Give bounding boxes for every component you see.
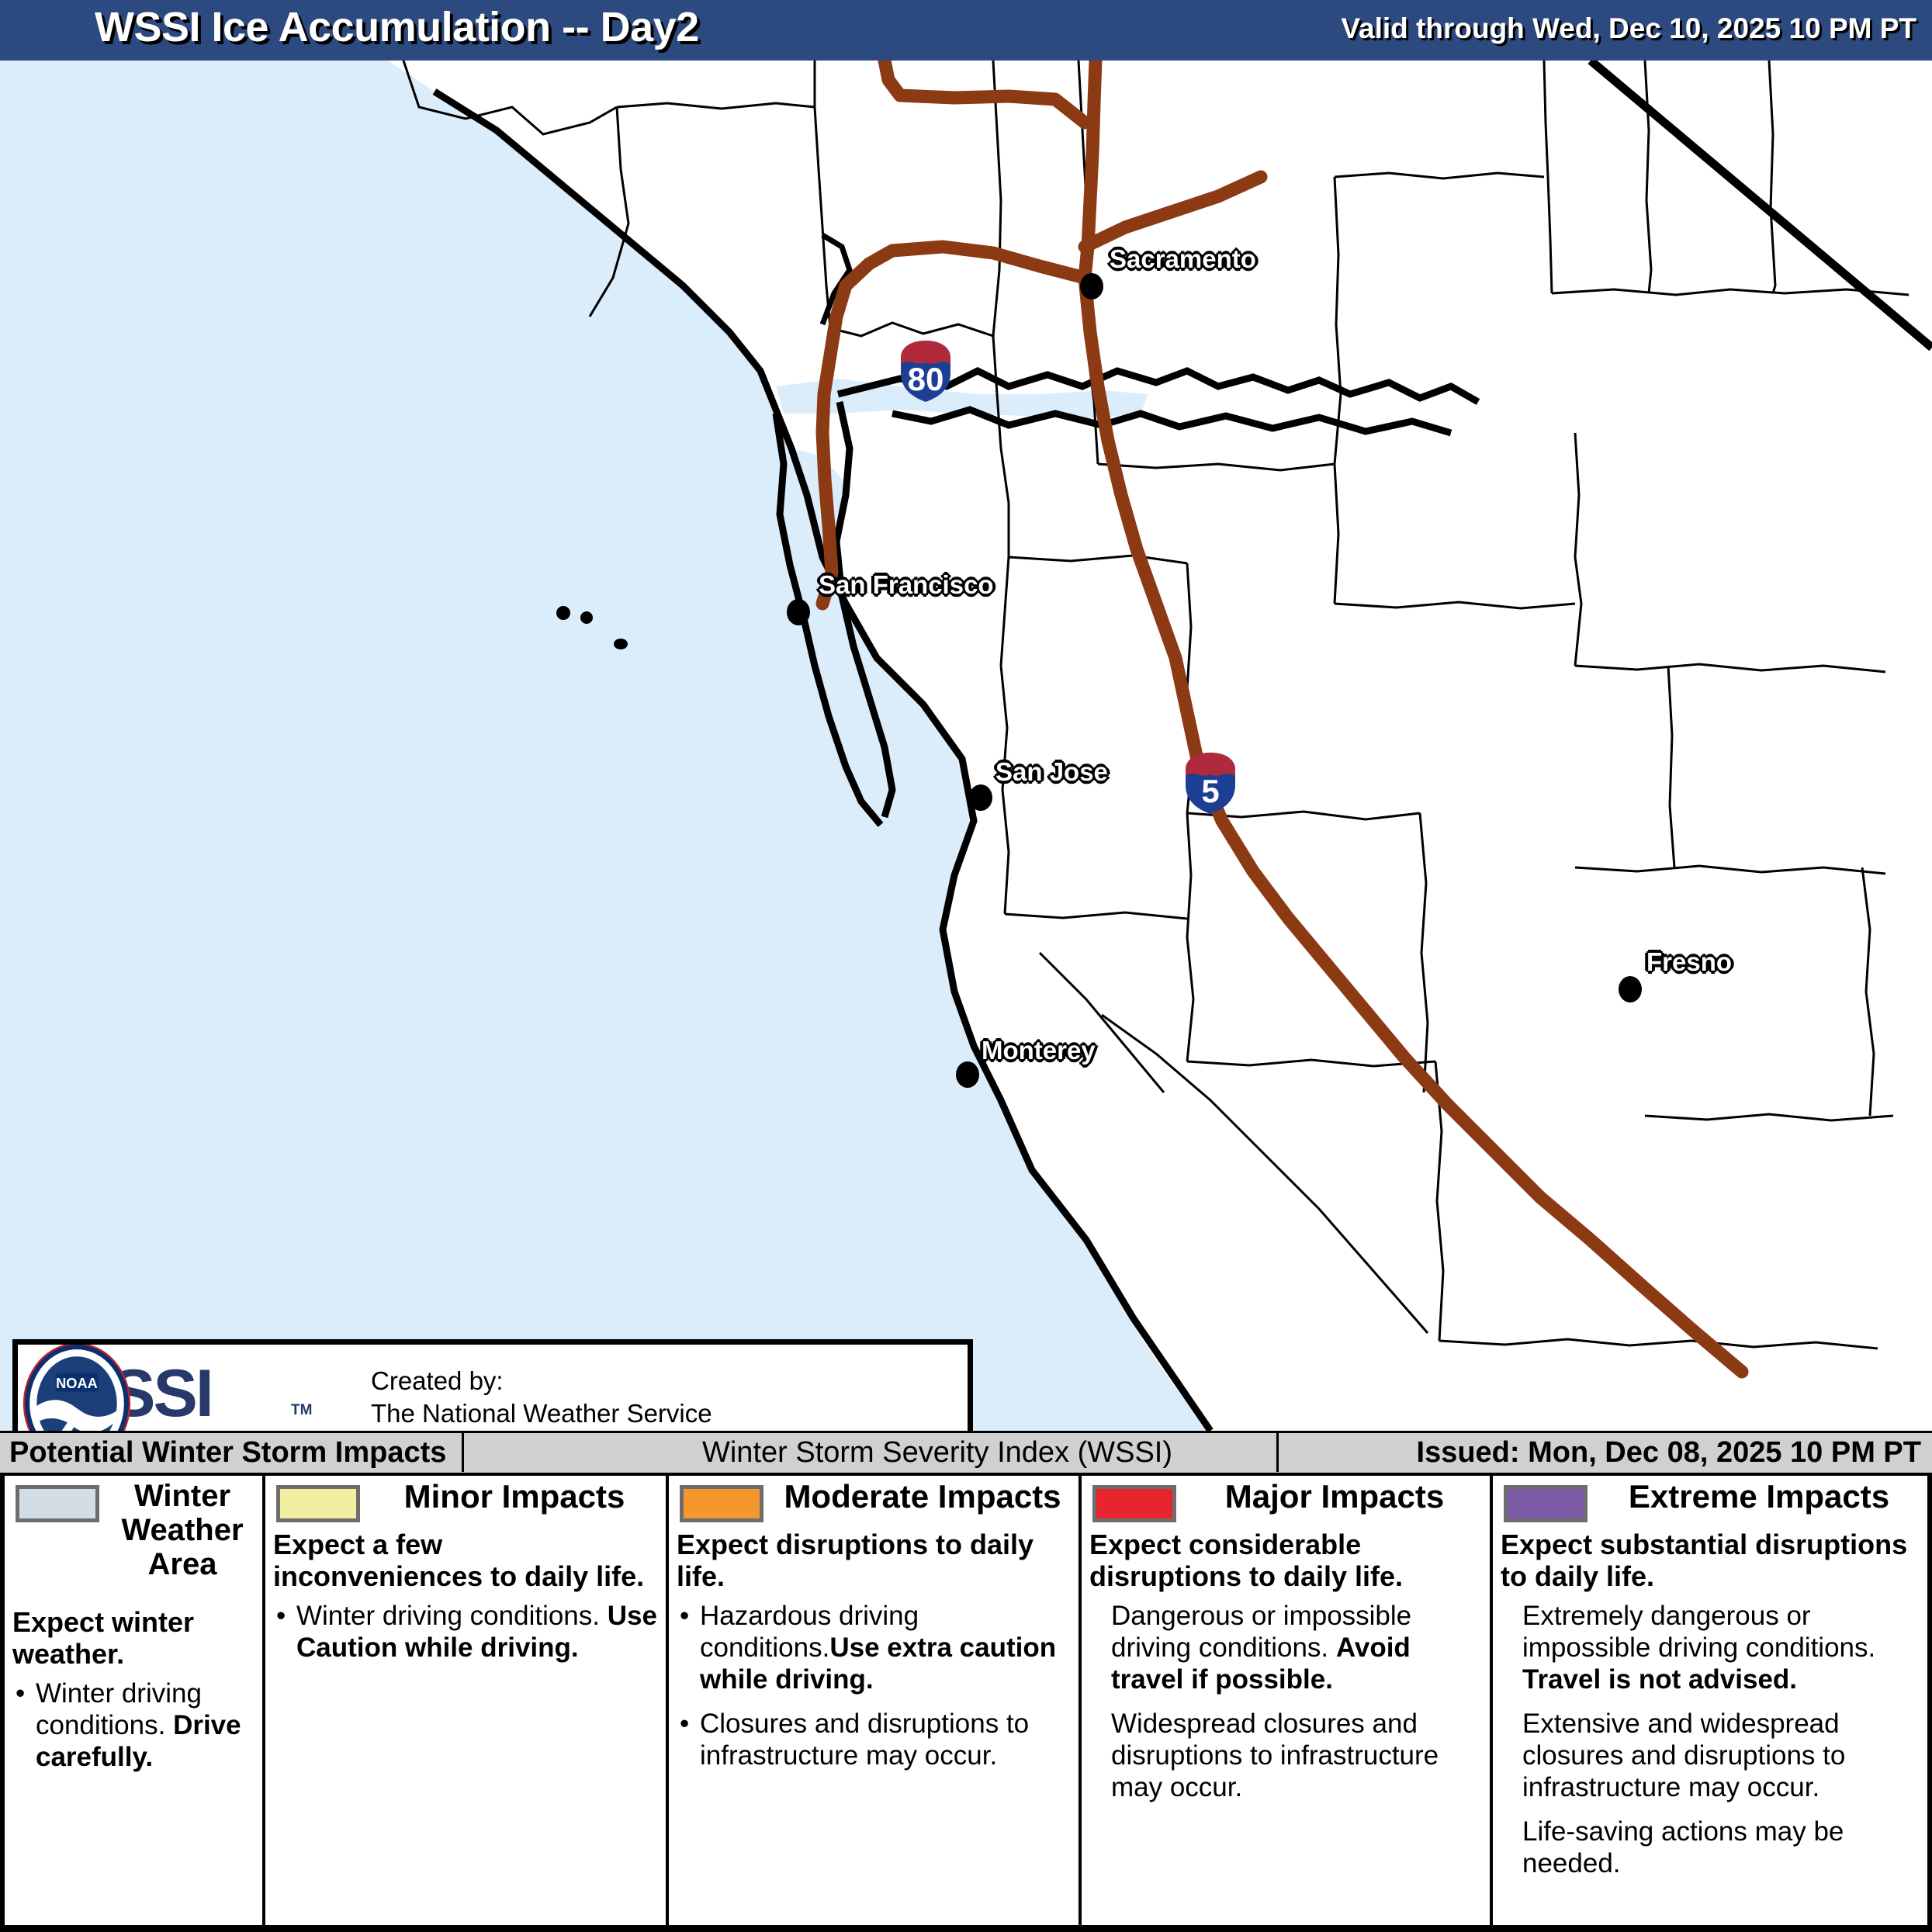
legend-lead-moderate-impacts: Expect disruptions to daily life.	[677, 1529, 1072, 1592]
city-dot-san-francisco	[787, 599, 810, 625]
swatch-winter-weather-area	[16, 1485, 99, 1522]
created-line-3: Weather Prediction Center	[371, 1430, 712, 1431]
legend-bullets-extreme-impacts: Extremely dangerous or impossible drivin…	[1501, 1600, 1921, 1879]
created-line-2: The National Weather Service	[371, 1397, 712, 1430]
legend-bullets-major-impacts: Dangerous or impossible driving conditio…	[1089, 1600, 1484, 1803]
created-line-1: Created by:	[371, 1365, 712, 1397]
legend-bullet: Hazardous driving conditions.Use extra c…	[677, 1600, 1072, 1695]
legend-bullet: Closures and disruptions to infrastructu…	[677, 1708, 1072, 1771]
legend-bullet: Winter driving conditions. Drive careful…	[12, 1678, 256, 1773]
valid-through-text: Valid through Wed, Dec 10, 2025 10 PM PT	[1341, 12, 1916, 45]
status-center-label: Winter Storm Severity Index (WSSI)	[702, 1436, 1172, 1470]
city-label-san-francisco: San Francisco	[819, 570, 994, 600]
legend-lead-winter-weather-area: Expect winter weather.	[12, 1606, 256, 1670]
map-vector	[0, 61, 1932, 1431]
status-left-label: Potential Winter Storm Impacts	[9, 1436, 446, 1470]
legend-bullet: Dangerous or impossible driving conditio…	[1089, 1600, 1484, 1695]
status-issued-label: Issued: Mon, Dec 08, 2025 10 PM PT	[1417, 1436, 1921, 1470]
legend-lead-minor-impacts: Expect a few inconveniences to daily lif…	[273, 1529, 660, 1592]
legend-title-minor-impacts: Minor Impacts	[366, 1479, 663, 1515]
city-dot-fresno	[1619, 976, 1642, 1002]
legend-bullet: Extensive and widespread closures and di…	[1501, 1708, 1921, 1803]
city-dot-sacramento	[1080, 273, 1103, 299]
legend-column-extreme-impacts: Extreme Impacts Expect substantial disru…	[1490, 1476, 1927, 1925]
page-title: WSSI Ice Accumulation -- Day2	[95, 3, 699, 51]
legend-bullets-winter-weather-area: Winter driving conditions. Drive careful…	[12, 1678, 256, 1773]
interstate-shield-5: 5	[1181, 750, 1240, 816]
legend-bullet: Extremely dangerous or impossible drivin…	[1501, 1600, 1921, 1695]
legend-bullets-moderate-impacts: Hazardous driving conditions.Use extra c…	[677, 1600, 1072, 1771]
swatch-major-impacts	[1092, 1485, 1176, 1522]
legend-column-minor-impacts: Minor Impacts Expect a few inconvenience…	[262, 1476, 666, 1925]
wssi-logo-box: WSSI TM The Winter Storm Severity Index	[12, 1339, 973, 1431]
status-bar: Potential Winter Storm Impacts Winter St…	[0, 1431, 1932, 1476]
legend-column-major-impacts: Major Impacts Expect considerable disrup…	[1079, 1476, 1490, 1925]
farallon-island-1	[556, 606, 570, 620]
legend-bullet: Winter driving conditions. Use Caution w…	[273, 1600, 660, 1664]
city-dot-san-jose	[969, 784, 992, 811]
swatch-minor-impacts	[276, 1485, 360, 1522]
city-dot-monterey	[956, 1061, 979, 1088]
noaa-seal: NOAA	[18, 1345, 136, 1431]
status-divider-2	[1276, 1433, 1279, 1472]
created-by-text: Created by: The National Weather Service…	[371, 1365, 712, 1431]
swatch-extreme-impacts	[1504, 1485, 1587, 1522]
legend-column-winter-weather-area: Winter Weather Area Expect winter weathe…	[5, 1476, 262, 1925]
city-label-monterey: Monterey	[982, 1036, 1096, 1065]
map-canvas[interactable]: Sacramento Sacramento San Francisco San …	[0, 61, 1932, 1431]
legend-title-winter-weather-area: Winter Weather Area	[104, 1479, 261, 1581]
city-label-san-jose: San Jose	[995, 757, 1108, 787]
wssi-map-page: WSSI Ice Accumulation -- Day2 Valid thro…	[0, 0, 1932, 1932]
interstate-shield-80: 80	[896, 338, 955, 404]
farallon-island-2	[580, 611, 593, 624]
swatch-moderate-impacts	[680, 1485, 763, 1522]
legend-bullets-minor-impacts: Winter driving conditions. Use Caution w…	[273, 1600, 660, 1664]
shield-80-number: 80	[896, 361, 955, 398]
header-bar: WSSI Ice Accumulation -- Day2 Valid thro…	[0, 0, 1932, 61]
status-divider-1	[462, 1433, 464, 1472]
legend-column-moderate-impacts: Moderate Impacts Expect disruptions to d…	[666, 1476, 1079, 1925]
legend-title-extreme-impacts: Extreme Impacts	[1594, 1479, 1924, 1515]
legend-lead-major-impacts: Expect considerable disruptions to daily…	[1089, 1529, 1484, 1592]
svg-text:NOAA: NOAA	[56, 1375, 98, 1391]
shield-5-number: 5	[1181, 773, 1240, 810]
legend-title-major-impacts: Major Impacts	[1182, 1479, 1487, 1515]
legend-lead-extreme-impacts: Expect substantial disruptions to daily …	[1501, 1529, 1921, 1592]
legend-bullet: Widespread closures and disruptions to i…	[1089, 1708, 1484, 1803]
legend-title-moderate-impacts: Moderate Impacts	[770, 1479, 1075, 1515]
farallon-island-3	[614, 639, 628, 649]
city-label-fresno: Fresno	[1646, 947, 1732, 977]
trademark-symbol: TM	[291, 1402, 312, 1419]
legend-bullet: Life-saving actions may be needed.	[1501, 1816, 1921, 1879]
impact-legend: Winter Weather Area Expect winter weathe…	[0, 1476, 1932, 1932]
city-label-sacramento: Sacramento	[1110, 244, 1256, 274]
